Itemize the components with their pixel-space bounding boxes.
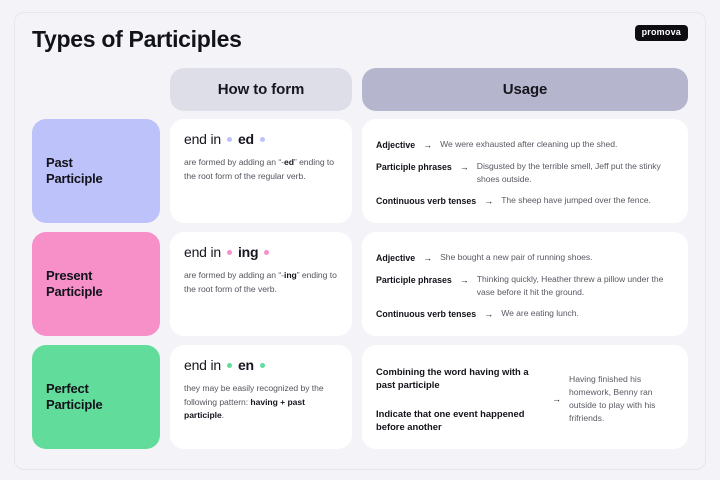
usage-item: Participle phrases → Disgusted by the te… bbox=[376, 160, 674, 185]
column-header-how-to-form: How to form bbox=[170, 68, 352, 111]
table-row: PresentParticiple end in ing are formed … bbox=[32, 232, 688, 336]
infographic-poster: Types of Participles promova How to form… bbox=[0, 0, 720, 480]
bullet-dot-icon bbox=[227, 137, 232, 142]
end-in-line: end in en bbox=[184, 357, 339, 373]
how-to-form-cell-past: end in ed are formed by adding an “-ed” … bbox=[170, 119, 352, 223]
usage-term: Adjective bbox=[376, 251, 415, 264]
suffix-text: ing bbox=[238, 244, 258, 260]
usage-example: The sheep have jumped over the fence. bbox=[501, 194, 651, 207]
bullet-dot-icon bbox=[227, 250, 232, 255]
usage-example: Thinking quickly, Heather threw a pillow… bbox=[477, 273, 674, 298]
table-row: PerfectParticiple end in en they may be … bbox=[32, 345, 688, 449]
bullet-dot-icon bbox=[264, 250, 269, 255]
usage-example: We were exhausted after cleaning up the … bbox=[440, 138, 617, 151]
row-label-text: PastParticiple bbox=[46, 155, 103, 187]
column-header-usage: Usage bbox=[362, 68, 688, 111]
page-title: Types of Participles bbox=[32, 26, 690, 52]
usage-term: Continuous verb tenses bbox=[376, 307, 476, 320]
end-in-text: end in bbox=[184, 244, 221, 260]
form-description: are formed by adding an “-ing” ending to… bbox=[184, 269, 339, 296]
column-header-spacer bbox=[32, 68, 160, 111]
arrow-icon: → bbox=[423, 251, 432, 264]
arrow-icon: → bbox=[484, 194, 493, 207]
end-in-line: end in ed bbox=[184, 131, 339, 147]
usage-item: Adjective → She bought a new pair of run… bbox=[376, 251, 674, 264]
how-to-form-cell-perfect: end in en they may be easily recognized … bbox=[170, 345, 352, 449]
arrow-icon: → bbox=[484, 307, 493, 320]
perfect-terms-group: Combining the word having with a past pa… bbox=[376, 365, 544, 433]
bullet-dot-icon bbox=[227, 363, 232, 368]
usage-term: Continuous verb tenses bbox=[376, 194, 476, 207]
usage-example: We are eating lunch. bbox=[501, 307, 579, 320]
usage-example: Disgusted by the terrible smell, Jeff pu… bbox=[477, 160, 674, 185]
usage-term: Participle phrases bbox=[376, 160, 452, 173]
usage-item: Continuous verb tenses → We are eating l… bbox=[376, 307, 674, 320]
arrow-icon: → bbox=[423, 138, 432, 151]
usage-item: Adjective → We were exhausted after clea… bbox=[376, 138, 674, 151]
suffix-text: ed bbox=[238, 131, 254, 147]
arrow-icon: → bbox=[460, 273, 469, 286]
end-in-text: end in bbox=[184, 131, 221, 147]
usage-item: Participle phrases → Thinking quickly, H… bbox=[376, 273, 674, 298]
row-label-text: PerfectParticiple bbox=[46, 381, 103, 413]
arrow-icon: → bbox=[552, 392, 561, 405]
arrow-icon: → bbox=[460, 160, 469, 173]
bullet-dot-icon bbox=[260, 137, 265, 142]
usage-cell-present: Adjective → She bought a new pair of run… bbox=[362, 232, 688, 336]
usage-example: She bought a new pair of running shoes. bbox=[440, 251, 592, 264]
suffix-text: en bbox=[238, 357, 254, 373]
header: Types of Participles promova bbox=[16, 16, 704, 62]
table-row: PastParticiple end in ed are formed by a… bbox=[32, 119, 688, 223]
end-in-text: end in bbox=[184, 357, 221, 373]
end-in-line: end in ing bbox=[184, 244, 339, 260]
usage-term: Adjective bbox=[376, 138, 415, 151]
row-label-past-participle: PastParticiple bbox=[32, 119, 160, 223]
bullet-dot-icon bbox=[260, 363, 265, 368]
promova-logo: promova bbox=[635, 25, 688, 41]
rows-container: PastParticiple end in ed are formed by a… bbox=[16, 111, 704, 449]
row-label-text: PresentParticiple bbox=[46, 268, 103, 300]
form-description: are formed by adding an “-ed” ending to … bbox=[184, 156, 339, 183]
column-headers: How to form Usage bbox=[16, 62, 704, 111]
usage-term: Participle phrases bbox=[376, 273, 452, 286]
usage-term: Combining the word having with a past pa… bbox=[376, 365, 544, 391]
row-label-perfect-participle: PerfectParticiple bbox=[32, 345, 160, 449]
row-label-present-participle: PresentParticiple bbox=[32, 232, 160, 336]
usage-example: Having finished his homework, Benny ran … bbox=[569, 373, 674, 425]
usage-term: Indicate that one event happened before … bbox=[376, 407, 544, 433]
usage-item: Continuous verb tenses → The sheep have … bbox=[376, 194, 674, 207]
usage-cell-past: Adjective → We were exhausted after clea… bbox=[362, 119, 688, 223]
form-description: they may be easily recognized by the fol… bbox=[184, 382, 339, 423]
usage-cell-perfect: Combining the word having with a past pa… bbox=[362, 345, 688, 449]
how-to-form-cell-present: end in ing are formed by adding an “-ing… bbox=[170, 232, 352, 336]
